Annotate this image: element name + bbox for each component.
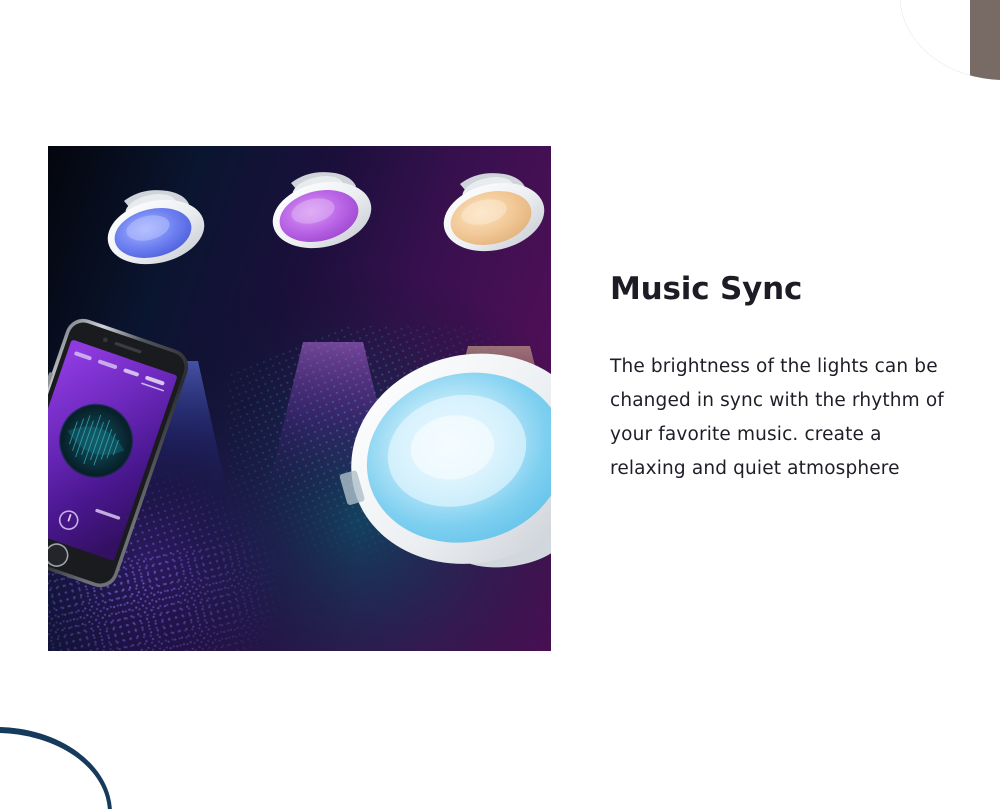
top-right-corner-decoration [900,0,1000,80]
slide-canvas: Music Sync The brightness of the lights … [0,0,1000,809]
page-title: Music Sync [610,272,960,306]
product-photo [48,146,551,651]
bottom-left-corner-decoration [0,727,112,809]
body-description: The brightness of the lights can be chan… [610,350,958,486]
text-column: Music Sync The brightness of the lights … [610,272,960,486]
